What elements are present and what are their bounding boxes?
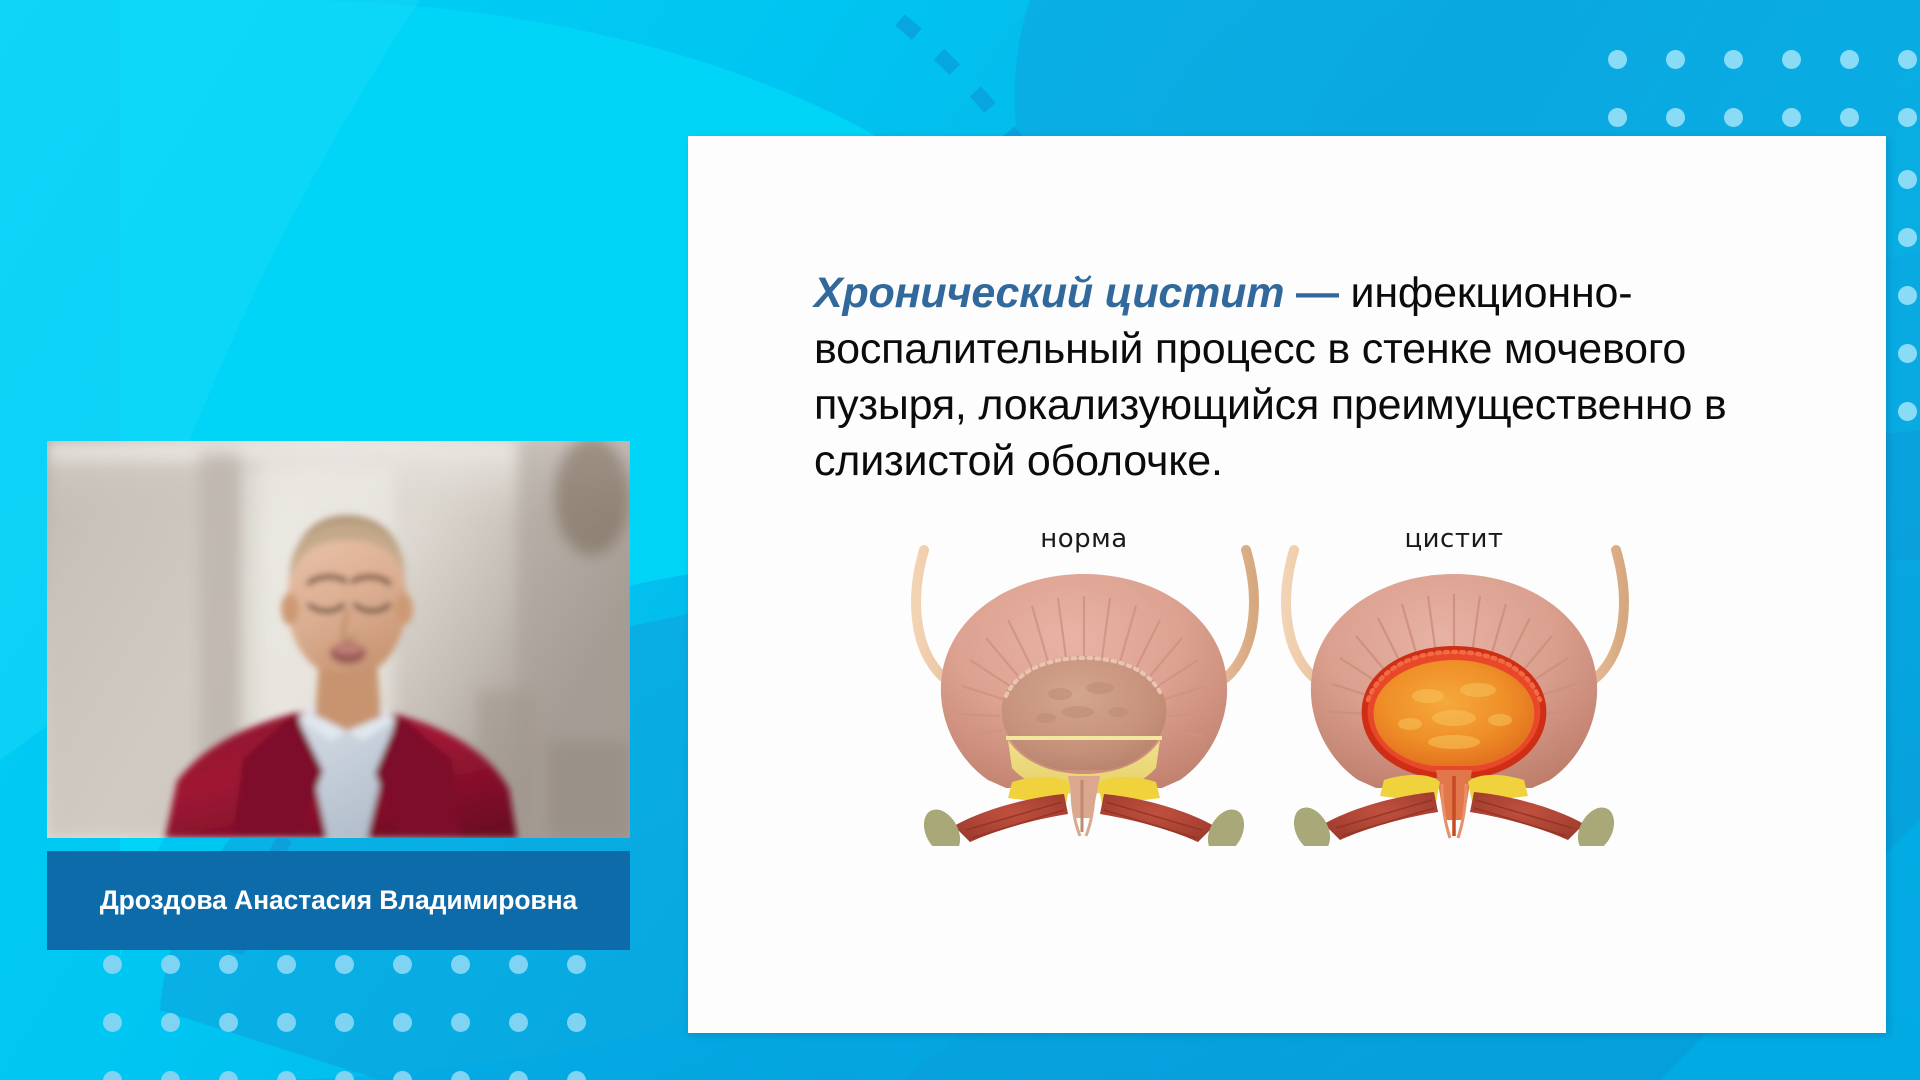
dot <box>1666 50 1685 69</box>
dot <box>1898 170 1917 189</box>
slide-content-card: Хронический цистит — инфекционно-воспали… <box>688 136 1886 1033</box>
dot <box>1782 108 1801 127</box>
dot <box>1898 402 1917 421</box>
dot <box>1724 50 1743 69</box>
dot <box>103 1071 122 1080</box>
dot <box>393 1013 412 1032</box>
dot <box>393 1071 412 1080</box>
bladder-diagram-cystitis: цистит <box>1264 506 1644 846</box>
dot <box>393 955 412 974</box>
dot <box>1898 344 1917 363</box>
dot <box>509 1071 528 1080</box>
dot <box>567 955 586 974</box>
dot <box>161 955 180 974</box>
decorative-dot-grid-bottom-left <box>103 955 625 1080</box>
dot <box>1724 108 1743 127</box>
dot <box>509 1013 528 1032</box>
dot <box>335 1013 354 1032</box>
bladder-comparison-figure: норма <box>884 506 1684 846</box>
dot <box>161 1013 180 1032</box>
speaker-name-banner: Дроздова Анастасия Владимировна <box>47 851 630 950</box>
dot <box>103 1013 122 1032</box>
dot <box>509 955 528 974</box>
dot <box>219 955 238 974</box>
dot <box>219 1013 238 1032</box>
dot <box>1666 108 1685 127</box>
dot <box>161 1071 180 1080</box>
speaker-name-label: Дроздова Анастасия Владимировна <box>82 885 595 916</box>
dot <box>1898 286 1917 305</box>
dot <box>1898 108 1917 127</box>
dot <box>277 1071 296 1080</box>
definition-paragraph: Хронический цистит — инфекционно-воспали… <box>814 266 1834 490</box>
dot <box>1782 50 1801 69</box>
definition-term: Хронический цистит <box>814 269 1284 317</box>
dot <box>277 955 296 974</box>
dot <box>1898 228 1917 247</box>
bladder-diagram-normal: норма <box>894 506 1274 846</box>
dot <box>1898 50 1917 69</box>
dot <box>335 955 354 974</box>
bladder-normal-illustration <box>894 536 1274 846</box>
dot <box>451 1013 470 1032</box>
dot <box>567 1013 586 1032</box>
dot <box>219 1071 238 1080</box>
dot <box>1840 108 1859 127</box>
bladder-cystitis-illustration <box>1264 536 1644 846</box>
dot <box>1608 50 1627 69</box>
definition-dash: — <box>1296 269 1339 317</box>
dot <box>451 955 470 974</box>
dot <box>567 1071 586 1080</box>
decorative-dot-grid-right-edge <box>1898 170 1920 460</box>
dot <box>103 955 122 974</box>
speaker-video-feed <box>47 441 630 838</box>
dot <box>1608 108 1627 127</box>
dot <box>335 1071 354 1080</box>
dot <box>277 1013 296 1032</box>
speaker-video-panel[interactable] <box>47 441 630 838</box>
dot <box>1840 50 1859 69</box>
dot <box>451 1071 470 1080</box>
